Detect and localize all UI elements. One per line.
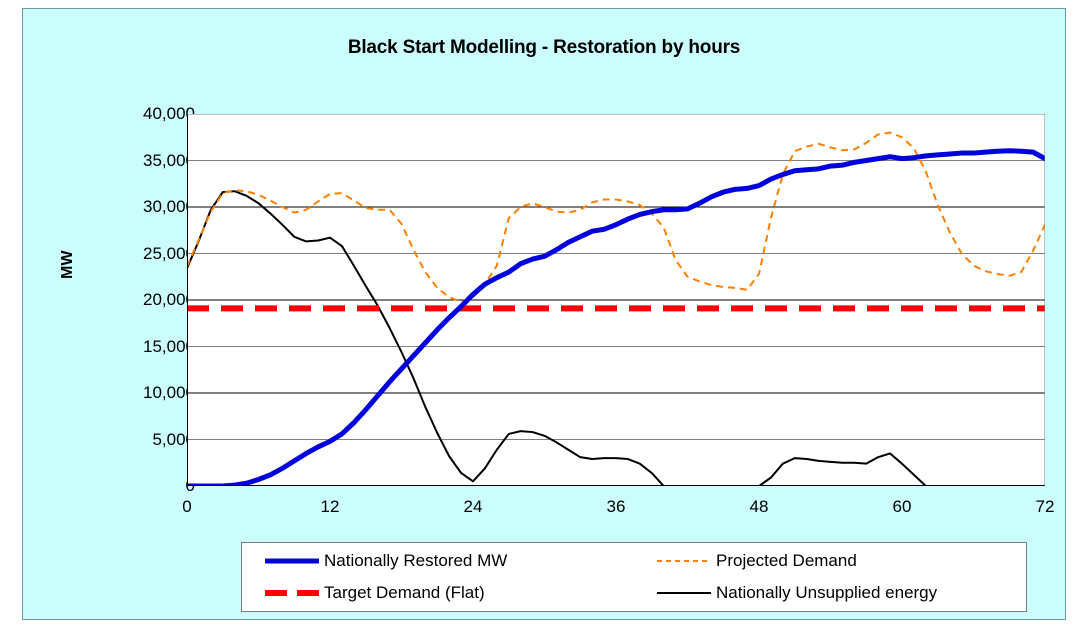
x-tick-label: 24 — [464, 497, 483, 517]
y-axis-label: MW — [59, 251, 77, 279]
orange-dashed-line-icon — [656, 554, 712, 568]
legend-item[interactable]: Nationally Unsupplied energy — [634, 583, 1026, 603]
x-tick-label: 60 — [893, 497, 912, 517]
x-tick-label: 36 — [607, 497, 626, 517]
x-tick-label: 12 — [321, 497, 340, 517]
black-solid-line-icon — [656, 586, 712, 600]
legend-item[interactable]: Projected Demand — [634, 551, 1026, 571]
legend-label: Nationally Unsupplied energy — [716, 583, 937, 603]
x-axis-tick-labels: 0122436486072 — [23, 497, 1091, 523]
plot-area — [187, 114, 1045, 486]
x-tick-label: 48 — [750, 497, 769, 517]
chart-frame: Black Start Modelling - Restoration by h… — [22, 8, 1066, 620]
y-axis-tick-labels: 05,00010,00015,00020,00025,00030,00035,0… — [83, 9, 195, 632]
chart-screenshot: Black Start Modelling - Restoration by h… — [0, 0, 1091, 632]
x-tick-label: 0 — [182, 497, 191, 517]
plot-svg — [187, 114, 1045, 486]
red-dashed-line-icon — [264, 586, 320, 600]
legend-item[interactable]: Nationally Restored MW — [242, 551, 634, 571]
x-tick-label: 72 — [1036, 497, 1055, 517]
legend-label: Target Demand (Flat) — [324, 583, 485, 603]
legend-label: Nationally Restored MW — [324, 551, 507, 571]
chart-legend: Nationally Restored MWProjected DemandTa… — [241, 542, 1027, 612]
blue-solid-line-icon — [264, 554, 320, 568]
legend-item[interactable]: Target Demand (Flat) — [242, 583, 634, 603]
legend-label: Projected Demand — [716, 551, 857, 571]
